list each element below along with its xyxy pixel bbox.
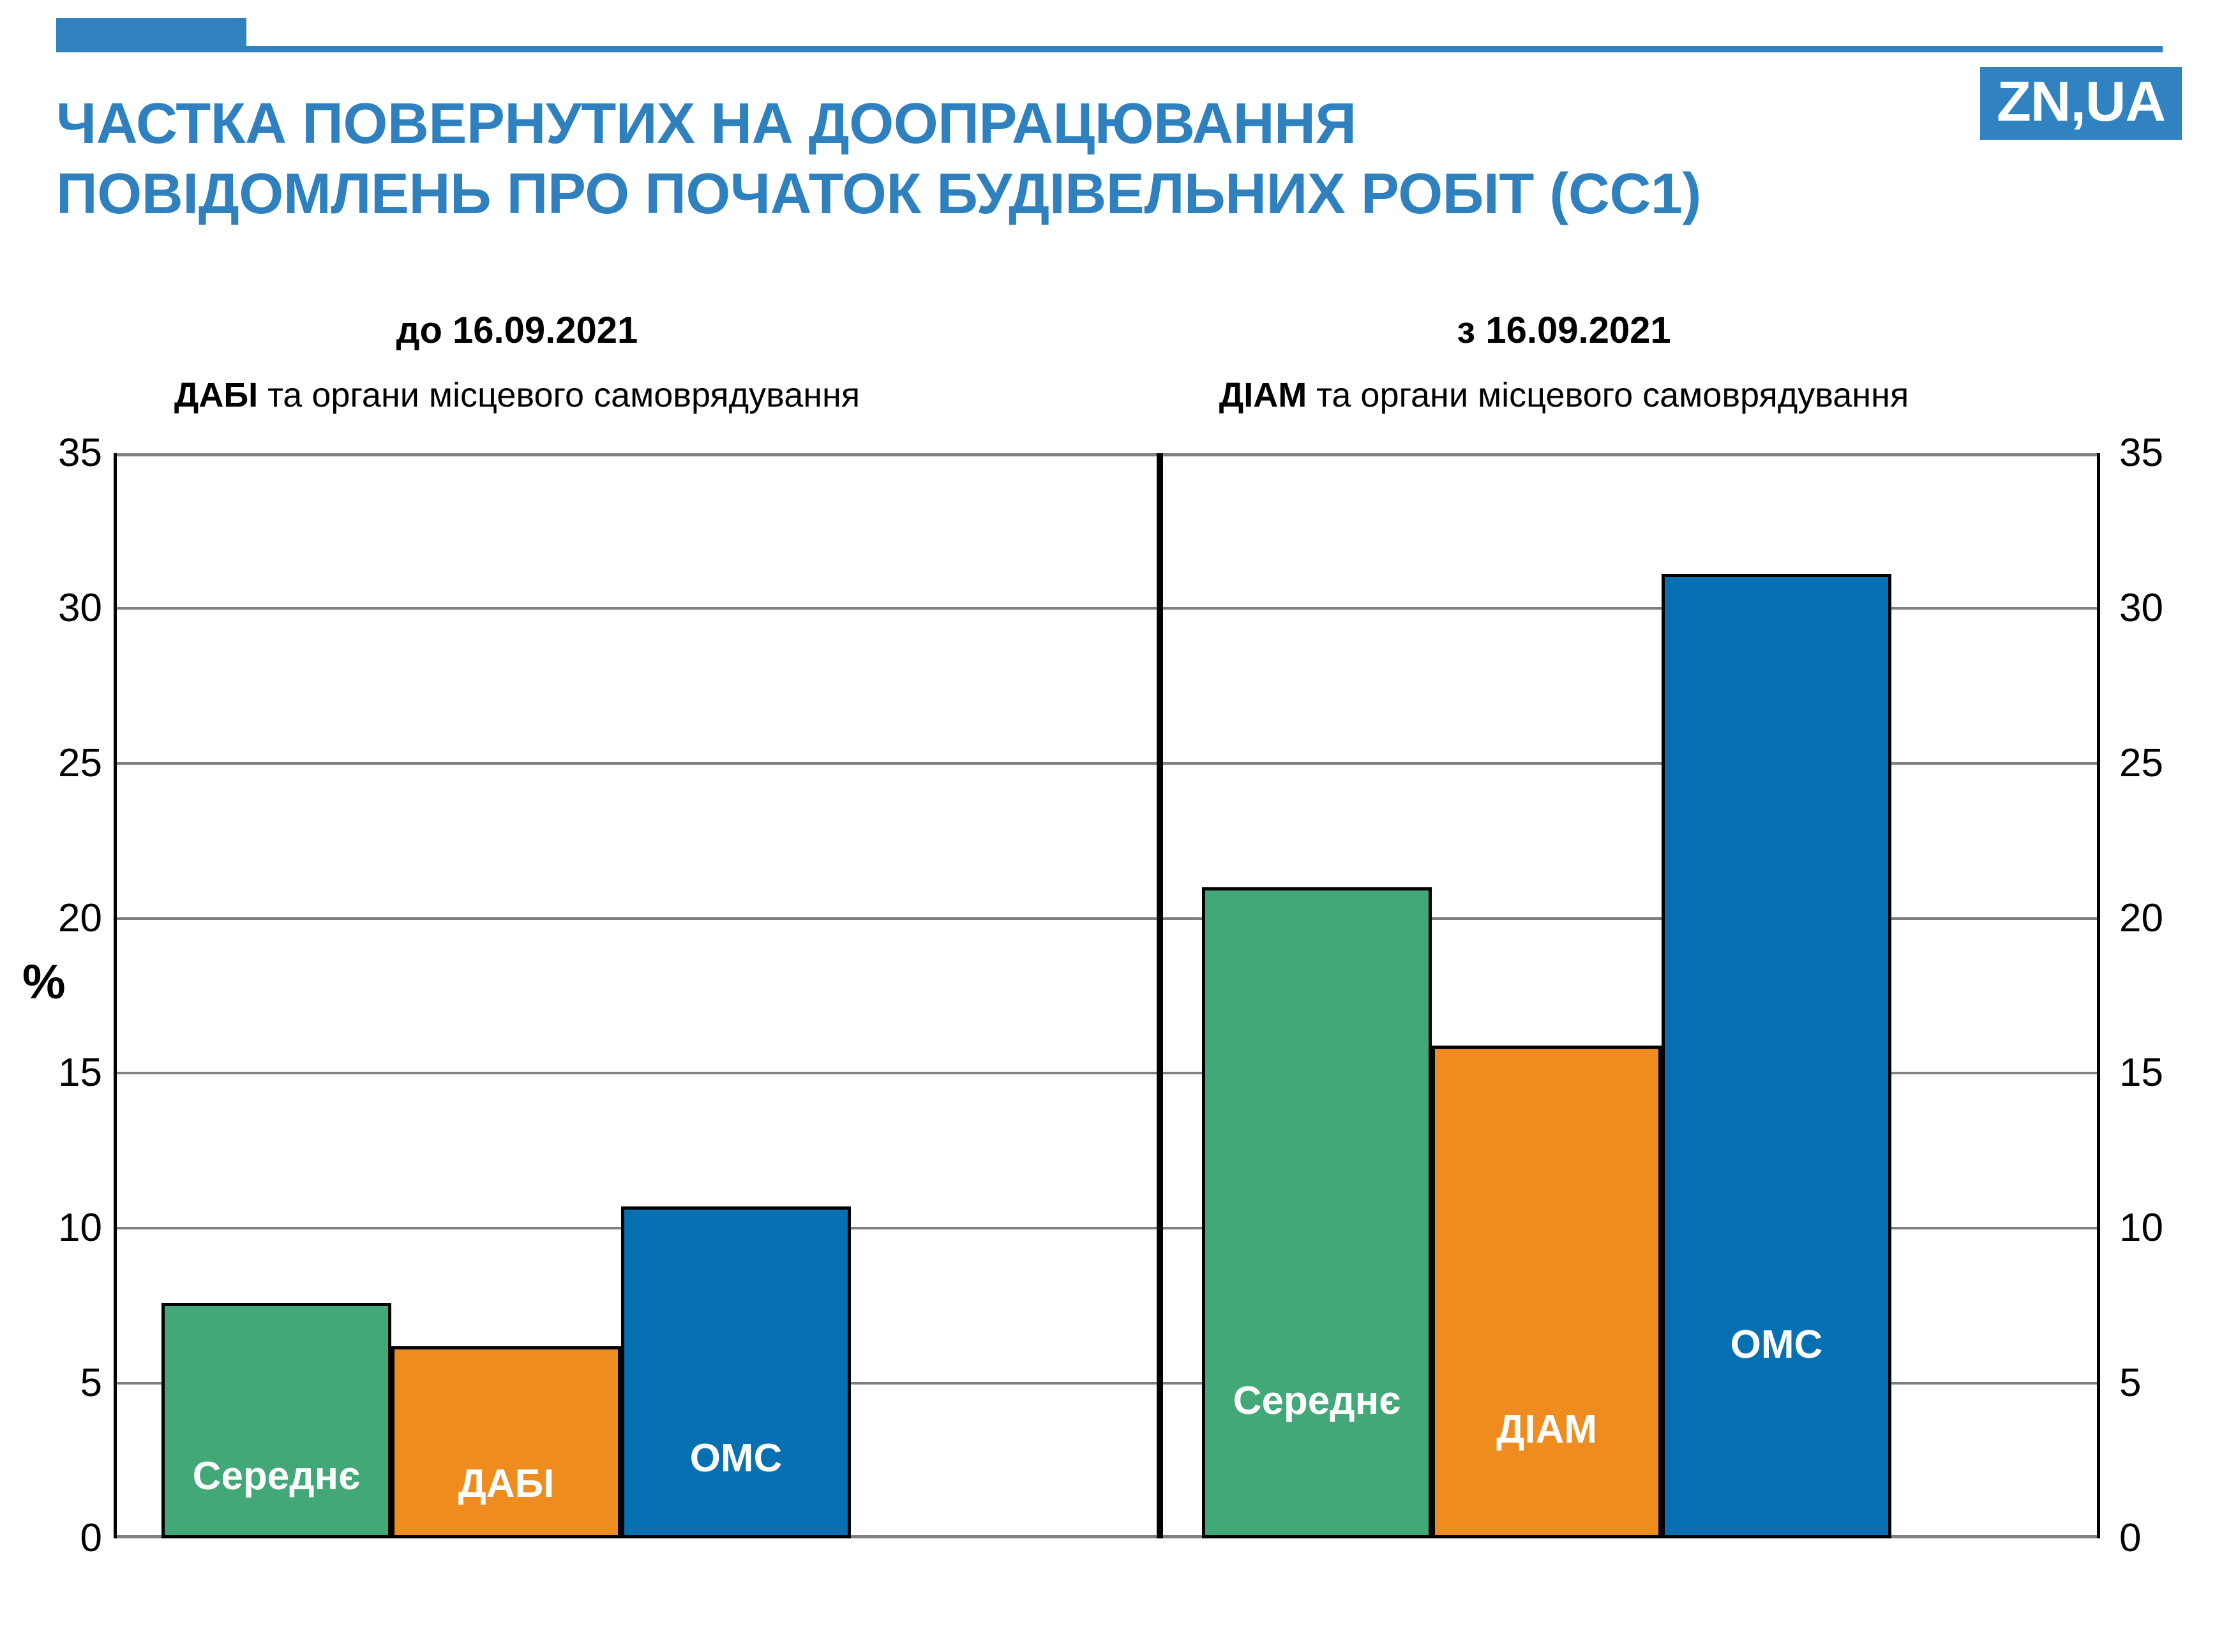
- bar-chart-plot-area: Середнє ДАБІ ОМС Середнє ДІАМ ОМС: [114, 453, 2100, 1538]
- panel-right-date: з 16.09.2021: [1194, 310, 1934, 352]
- y-tick-right-5: 5: [2119, 1363, 2215, 1403]
- page-title: ЧАСТКА ПОВЕРНУТИХ НА ДООПРАЦЮВАННЯ ПОВІД…: [56, 89, 1652, 230]
- panel-right-org-rest: та органи місцевого самоврядування: [1307, 376, 1909, 414]
- bar-label-left-dabi: ДАБІ: [391, 1464, 621, 1504]
- bar-left-serednje[interactable]: [161, 1303, 391, 1538]
- y-tick-left-20: 20: [6, 899, 102, 938]
- bar-right-oms[interactable]: [1662, 574, 1891, 1538]
- y-tick-right-10: 10: [2119, 1208, 2215, 1248]
- y-axis-left: 35 30 25 20 15 10 5 0: [6, 453, 102, 1538]
- y-tick-right-30: 30: [2119, 589, 2215, 628]
- panel-caption-right: з 16.09.2021 ДІАМ та органи місцевого са…: [1194, 310, 1934, 416]
- panel-left-org-bold: ДАБІ: [174, 376, 258, 414]
- page-title-line-1: ЧАСТКА ПОВЕРНУТИХ НА ДООПРАЦЮВАННЯ: [56, 89, 1652, 160]
- panel-right-org-bold: ДІАМ: [1219, 376, 1307, 414]
- panel-caption-left: до 16.09.2021 ДАБІ та органи місцевого с…: [147, 310, 887, 416]
- panel-left-date: до 16.09.2021: [147, 310, 887, 352]
- bar-label-left-oms: ОМС: [621, 1439, 851, 1478]
- y-tick-right-25: 25: [2119, 744, 2215, 783]
- panel-right-org: ДІАМ та органи місцевого самоврядування: [1194, 375, 1934, 416]
- panel-left-org-rest: та органи місцевого самоврядування: [258, 376, 860, 414]
- bar-label-right-diam: ДІАМ: [1432, 1410, 1662, 1450]
- panel-divider: [1157, 453, 1163, 1538]
- bar-label-left-serednje: Середнє: [161, 1457, 391, 1496]
- y-tick-right-15: 15: [2119, 1053, 2215, 1093]
- plot-top-border: [117, 453, 2097, 456]
- y-tick-left-15: 15: [6, 1053, 102, 1093]
- y-tick-right-0: 0: [2119, 1519, 2215, 1558]
- y-tick-right-20: 20: [2119, 899, 2215, 938]
- y-tick-left-35: 35: [6, 433, 102, 473]
- bar-right-diam[interactable]: [1432, 1046, 1662, 1538]
- y-axis-right: 35 30 25 20 15 10 5 0: [2119, 453, 2215, 1538]
- brand-logo: ZN,UA: [1980, 67, 2182, 140]
- bar-left-oms[interactable]: [621, 1206, 851, 1538]
- y-tick-right-35: 35: [2119, 433, 2215, 473]
- y-tick-left-25: 25: [6, 744, 102, 783]
- y-tick-left-10: 10: [6, 1208, 102, 1248]
- y-tick-left-30: 30: [6, 589, 102, 628]
- y-tick-left-0: 0: [6, 1519, 102, 1558]
- bar-left-dabi[interactable]: [391, 1346, 621, 1538]
- bar-label-right-oms: ОМС: [1662, 1325, 1891, 1365]
- page-title-line-2: ПОВІДОМЛЕНЬ ПРО ПОЧАТОК БУДІВЕЛЬНИХ РОБІ…: [56, 160, 1652, 230]
- bar-label-right-serednje: Середнє: [1202, 1381, 1432, 1421]
- header-accent-rule: [56, 46, 2163, 52]
- bar-right-serednje[interactable]: [1202, 887, 1432, 1538]
- y-tick-left-5: 5: [6, 1363, 102, 1403]
- panel-left-org: ДАБІ та органи місцевого самоврядування: [147, 375, 887, 416]
